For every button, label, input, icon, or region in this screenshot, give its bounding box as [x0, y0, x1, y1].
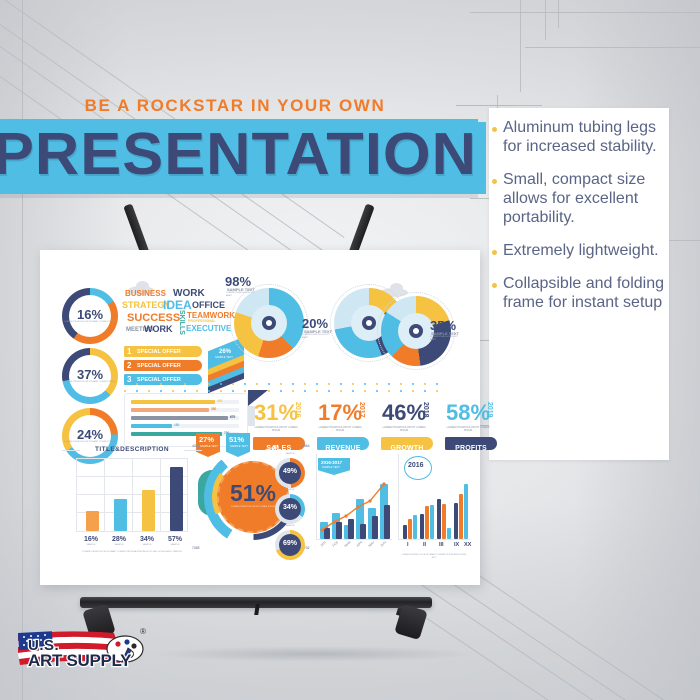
bar-category-label: 57%: [168, 536, 182, 543]
mini-ring-value: 69%: [275, 540, 305, 547]
kpi-ribbon[interactable]: PROFITS: [445, 437, 497, 450]
offer-number: 1: [127, 347, 131, 356]
donut-chart-37: 37% LOREM IPSUM DOLOR SIT AMET CONSECTET…: [62, 348, 118, 404]
badge-value: 27%: [199, 435, 214, 444]
bullet-dot-icon: [492, 250, 497, 255]
combo-axis-label: JUN: [380, 540, 388, 547]
kpi-ribbon[interactable]: REVENUE: [317, 437, 369, 450]
roman-chart-footnote: LOREM IPSUM DOLOR SIT AMET CONSECTETUR A…: [400, 554, 468, 560]
combo-axis-label: MAR: [344, 540, 352, 548]
kpi-value: 31%: [254, 400, 298, 426]
kpi-label: GROWTH: [390, 445, 423, 452]
progress-label: 180: [174, 423, 179, 427]
floor-shadow: [150, 646, 480, 662]
kpi-year: 2017: [358, 402, 365, 418]
combo-chart-badge: 2016-2017 SAMPLE TEXT: [318, 458, 350, 475]
word-cloud-item: OFFICE: [192, 301, 225, 310]
mini-ring-caption: SAMPLE: [275, 453, 305, 456]
roman-bar-blue: [430, 505, 434, 539]
kpi-value: 58%: [446, 400, 490, 426]
roman-axis-label: I: [407, 542, 409, 548]
mini-ring-caption: SAMPLE: [275, 525, 305, 528]
roman-axis-label: III: [439, 542, 444, 548]
combo-badge-sub: SAMPLE TEXT: [322, 466, 340, 469]
roman-badge-label: 2016: [408, 462, 424, 469]
mini-ring-34: 34% SAMPLE: [275, 494, 305, 524]
combo-trend-line: [318, 478, 390, 539]
list-item: Extremely lightweight.: [492, 241, 678, 260]
word-cloud-item: EXECUTIVE: [186, 325, 231, 333]
roman-chart: 2016 I II III IX XX: [398, 454, 470, 566]
feature-text: Small, compact size allows for excellent…: [503, 170, 678, 227]
combo-axis-label: APR: [356, 540, 364, 548]
mini-ring-69: 69% SAMPLE: [275, 530, 305, 560]
mini-ring-caption: SAMPLE: [275, 489, 305, 492]
brand-name-line2: ART SUPPLY: [28, 651, 168, 671]
kpi-growth: 46% 2018 LOREM IPSUM DOLOR SIT LOREM IPS…: [378, 400, 438, 462]
bar-category-label: 28%: [112, 536, 126, 543]
kicker-text: BE A ROCKSTAR IN YOUR OWN: [0, 96, 470, 116]
bar-sublabel: SAMPLE: [110, 544, 128, 547]
kpi-year: 2016: [294, 402, 301, 418]
pie-caption: LOREM IPSUM DOLOR SIT AMET: [430, 336, 462, 342]
decorative-hline-2: [525, 47, 700, 48]
combo-axis-label: MAY: [368, 540, 376, 548]
bar-sublabel: SAMPLE: [138, 544, 156, 547]
roman-axis-label: IX: [454, 542, 459, 548]
combo-badge-label: 2016-2017: [321, 460, 342, 465]
offer-row[interactable]: 2 SPECIAL OFFER: [124, 360, 202, 371]
donut-caption: LOREM IPSUM DOLOR SIT AMET CONSECTETUR: [62, 381, 118, 384]
kpi-caption: LOREM IPSUM DOLOR SIT LOREM IPSUM: [318, 426, 362, 433]
bar-0: [86, 511, 99, 531]
kpi-profits: 58% 2019 LOREM IPSUM DOLOR SIT LOREM IPS…: [442, 400, 502, 462]
roman-bar-orange: [459, 494, 463, 539]
combo-chart: 2016-2017 SAMPLE TEXT: [316, 454, 392, 566]
kpi-caption: LOREM IPSUM DOLOR SIT LOREM IPSUM: [254, 426, 298, 433]
roman-bar-blue: [447, 528, 451, 539]
word-cloud-item: PROFESSIONAL: [188, 320, 216, 324]
page-title: PRESENTATION: [0, 118, 479, 190]
mini-ring-value: 34%: [275, 504, 305, 511]
roman-bar-orange: [442, 504, 446, 539]
combo-axis-label: JAN: [319, 540, 326, 547]
roman-bar-navy: [403, 525, 407, 539]
pie-caption: LOREM IPSUM DOLOR SIT AMET: [226, 292, 260, 298]
bar-category-label: 16%: [84, 536, 98, 543]
screenshot-root: BE A ROCKSTAR IN YOUR OWN PRESENTATION A…: [0, 0, 700, 700]
roman-axis-label: II: [423, 542, 426, 548]
roman-bar-navy: [420, 514, 424, 539]
kpi-value: 46%: [382, 400, 426, 426]
donut-caption: LOREM IPSUM DOLOR SIT AMET CONSECTETUR: [62, 441, 118, 444]
word-cloud-item: SUCCESS: [127, 313, 180, 324]
kpi-caption: LOREM IPSUM DOLOR SIT LOREM IPSUM: [382, 426, 426, 433]
word-cloud-item: BUSINESS: [125, 290, 166, 298]
pie-chart-35: 35% SAMPLE TEXT LOREM IPSUM DOLOR SIT AM…: [373, 288, 465, 374]
mini-ring-49: 49% SAMPLE: [275, 458, 305, 488]
kpi-year: 2018: [422, 402, 429, 418]
roman-bar-navy: [437, 499, 441, 539]
roman-bar-navy: [454, 503, 458, 539]
poster-board: 16% LOREM IPSUM DOLOR SIT AMET CONSECTET…: [40, 250, 480, 585]
roman-bar-orange: [425, 506, 429, 539]
bar-chart-footnote: LOREM IPSUM DOLOR SIT AMET CONSECTETUR A…: [76, 551, 188, 554]
hero-tick-top: 4354: [192, 444, 200, 448]
bar-3: [170, 467, 183, 531]
combo-axis-label: FEB: [332, 540, 340, 547]
hero-donut-caption: LOREM IPSUM DOLOR SIT LOREM IPSUM: [224, 506, 282, 509]
kpi-revenue: 17% 2017 LOREM IPSUM DOLOR SIT LOREM IPS…: [314, 400, 374, 462]
donut-value: 16%: [62, 307, 118, 322]
bullet-dot-icon: [492, 127, 497, 132]
roman-bar-orange: [408, 519, 412, 539]
decorative-vline-4: [558, 0, 559, 28]
roman-bar-blue: [464, 484, 468, 539]
donut-caption: LOREM IPSUM DOLOR SIT AMET CONSECTETUR: [62, 321, 118, 324]
kpi-value: 17%: [318, 400, 362, 426]
decorative-hline-1: [470, 12, 700, 13]
decorative-vline-2: [520, 0, 521, 92]
feature-list: Aluminum tubing legs for increased stabi…: [492, 118, 678, 326]
kpi-ribbon[interactable]: GROWTH: [381, 437, 433, 450]
brand-logo: U.S. ART SUPPLY ®: [12, 625, 152, 673]
offer-number: 2: [127, 361, 131, 370]
list-item: Small, compact size allows for excellent…: [492, 170, 678, 227]
list-item: Aluminum tubing legs for increased stabi…: [492, 118, 678, 156]
bar-2: [142, 490, 155, 531]
hero-tick-right-top: 9864: [302, 444, 310, 448]
feature-text: Aluminum tubing legs for increased stabi…: [503, 118, 678, 156]
word-cloud-item: WORK: [144, 325, 173, 334]
bar-1: [114, 499, 127, 531]
bar-sublabel: SAMPLE: [166, 544, 184, 547]
roman-axis-label: XX: [464, 542, 471, 548]
pie-caption: LOREM IPSUM DOLOR SIT AMET: [302, 334, 332, 340]
bullet-dot-icon: [492, 179, 497, 184]
offer-label: SPECIAL OFFER: [137, 377, 181, 383]
donut-value: 37%: [62, 367, 118, 382]
kpi-label: PROFITS: [455, 445, 487, 452]
word-cloud: BUSINESS WORK STRATEGY IDEA OFFICE SUCCE…: [124, 290, 220, 340]
kpi-label: REVENUE: [325, 445, 360, 452]
hero-tick-bottom: 7385: [192, 546, 200, 550]
bar-sublabel: SAMPLE: [82, 544, 100, 547]
bullet-dot-icon: [492, 283, 497, 288]
donut-chart-16: 16% LOREM IPSUM DOLOR SIT AMET CONSECTET…: [62, 288, 118, 344]
kpi-year: 2019: [486, 402, 493, 418]
kpi-caption: LOREM IPSUM DOLOR SIT LOREM IPSUM: [446, 426, 490, 433]
progress-fill: [131, 424, 172, 428]
word-cloud-item: SKILLS: [178, 310, 185, 335]
dot-pattern-row-1: [124, 383, 454, 387]
registered-mark: ®: [140, 627, 146, 636]
kicker-rule: [456, 105, 516, 106]
offer-row[interactable]: 1 SPECIAL OFFER: [124, 346, 202, 357]
feature-text: Collapsible and folding frame for instan…: [503, 274, 678, 312]
donut-value: 24%: [62, 427, 118, 442]
roman-chart-badge: 2016: [404, 456, 432, 480]
mini-ring-value: 49%: [275, 468, 305, 475]
offer-label: SPECIAL OFFER: [137, 363, 181, 369]
feature-text: Extremely lightweight.: [503, 241, 659, 260]
roman-bar-blue: [413, 515, 417, 539]
bar-category-label: 34%: [140, 536, 154, 543]
bar-chart-section: TITLE&DESCRIPTION 16%: [56, 446, 206, 570]
offer-list: 1 SPECIAL OFFER 2 SPECIAL OFFER 3 SPECIA…: [124, 346, 202, 388]
decorative-vline-3: [545, 0, 546, 40]
accent-stub: [476, 122, 486, 194]
offer-label: SPECIAL OFFER: [137, 349, 181, 355]
bar-chart-title: TITLE&DESCRIPTION: [76, 446, 188, 453]
pie-chart-98: 98% SAMPLE TEXT LOREM IPSUM DOLOR SIT AM…: [226, 280, 312, 366]
badge-value: 51%: [229, 435, 244, 444]
title-band-shadow: [0, 194, 478, 198]
list-item: Collapsible and folding frame for instan…: [492, 274, 678, 312]
